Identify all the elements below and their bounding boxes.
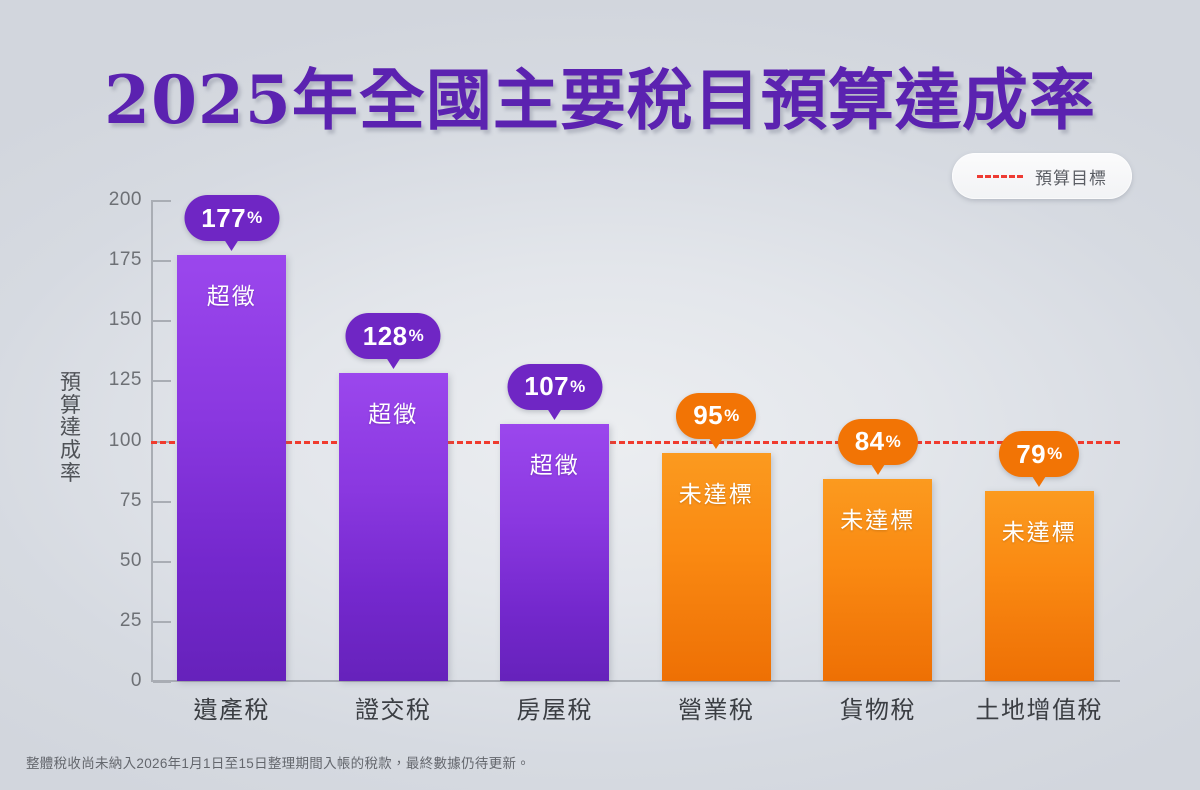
- callout-unit: %: [570, 377, 585, 397]
- y-axis-tick-label: 125: [109, 369, 142, 391]
- y-axis-tick-label: 0: [131, 670, 142, 692]
- callout-value: 95: [693, 400, 723, 431]
- y-axis-tick-label: 200: [109, 189, 142, 211]
- bar-status-label: 未達標: [662, 475, 771, 509]
- y-axis-tick: [153, 681, 171, 683]
- y-axis-tick: [153, 200, 171, 202]
- category-label-遺產稅: 遺產稅: [194, 690, 271, 725]
- bar-status-label: 超徵: [500, 446, 609, 480]
- callout-unit: %: [409, 326, 424, 346]
- value-callout-房屋稅: 107%: [507, 364, 602, 410]
- value-callout-證交稅: 128%: [346, 313, 441, 359]
- bar-status-label: 未達標: [823, 501, 932, 535]
- callout-value: 177: [201, 203, 246, 234]
- callout-value: 84: [855, 426, 885, 457]
- bar-貨物稅[interactable]: 未達標: [823, 479, 932, 681]
- callout-unit: %: [247, 208, 262, 228]
- y-axis-tick: [153, 260, 171, 262]
- callout-unit: %: [886, 432, 901, 452]
- y-axis-tick-label: 75: [120, 490, 142, 512]
- callout-value: 128: [363, 321, 408, 352]
- y-axis-tick: [153, 621, 171, 623]
- category-label-房屋稅: 房屋稅: [517, 690, 594, 725]
- y-axis-tick-label: 50: [120, 550, 142, 572]
- bar-證交稅[interactable]: 超徵: [339, 373, 448, 681]
- callout-value: 79: [1016, 439, 1046, 470]
- category-label-貨物稅: 貨物稅: [840, 690, 917, 725]
- bar-status-label: 超徵: [339, 395, 448, 429]
- y-axis-tick-label: 25: [120, 610, 142, 632]
- y-axis-tick-label: 150: [109, 309, 142, 331]
- callout-unit: %: [724, 406, 739, 426]
- x-axis-line: [151, 680, 1120, 682]
- chart-plot-area: 預算達成率 0255075100125150175200 超徵177%超徵128…: [0, 0, 1200, 790]
- category-label-證交稅: 證交稅: [355, 690, 432, 725]
- value-callout-營業稅: 95%: [676, 393, 756, 439]
- bar-status-label: 超徵: [177, 277, 286, 311]
- bar-遺產稅[interactable]: 超徵: [177, 255, 286, 681]
- budget-target-line: [151, 441, 1120, 444]
- y-axis-tick: [153, 561, 171, 563]
- bar-status-label: 未達標: [985, 513, 1094, 547]
- bar-土地增值稅[interactable]: 未達標: [985, 491, 1094, 681]
- value-callout-貨物稅: 84%: [838, 419, 918, 465]
- category-label-營業稅: 營業稅: [678, 690, 755, 725]
- infographic-canvas: 2025年全國主要稅目預算達成率 預算目標 預算達成率 025507510012…: [0, 0, 1200, 790]
- y-axis-tick-label: 175: [109, 249, 142, 271]
- bar-營業稅[interactable]: 未達標: [662, 453, 771, 681]
- category-label-土地增值稅: 土地增值稅: [976, 690, 1104, 725]
- y-axis-tick-label: 100: [109, 430, 142, 452]
- footnote: 整體稅收尚未納入2026年1月1日至15日整理期間入帳的稅款，最終數據仍待更新。: [26, 752, 530, 772]
- y-axis-title: 預算達成率: [56, 372, 86, 485]
- y-axis-tick: [153, 501, 171, 503]
- callout-value: 107: [524, 371, 569, 402]
- y-axis-tick: [153, 380, 171, 382]
- value-callout-遺產稅: 177%: [184, 195, 279, 241]
- value-callout-土地增值稅: 79%: [999, 431, 1079, 477]
- bar-房屋稅[interactable]: 超徵: [500, 424, 609, 681]
- callout-unit: %: [1047, 444, 1062, 464]
- y-axis-tick: [153, 320, 171, 322]
